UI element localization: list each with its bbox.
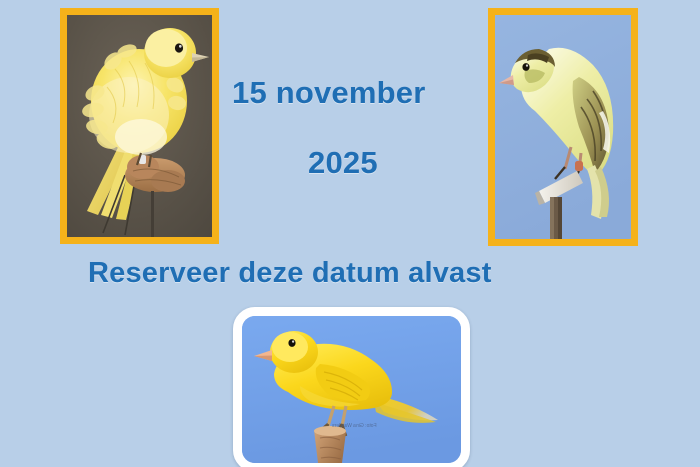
save-the-date-poster: Foto: Gina Wanders 15 november 2025 Rese… xyxy=(0,0,700,467)
variegated-green-canary-photo xyxy=(488,8,638,246)
photo-inner-right xyxy=(495,15,631,239)
event-year-line: 2025 xyxy=(308,145,378,181)
event-date-line: 15 november xyxy=(232,75,425,111)
variegated-green-canary-illustration xyxy=(495,15,631,239)
save-the-date-message: Reserveer deze datum alvast xyxy=(88,257,492,290)
photo-inner-left xyxy=(67,15,212,237)
bright-yellow-canary-illustration xyxy=(242,316,461,463)
photo-inner-bottom: Foto: Gina Wanders xyxy=(242,316,461,463)
bright-yellow-canary-photo: Foto: Gina Wanders xyxy=(233,307,470,467)
fluffy-yellow-canary-illustration xyxy=(67,15,212,237)
fluffy-yellow-canary-photo xyxy=(60,8,219,244)
